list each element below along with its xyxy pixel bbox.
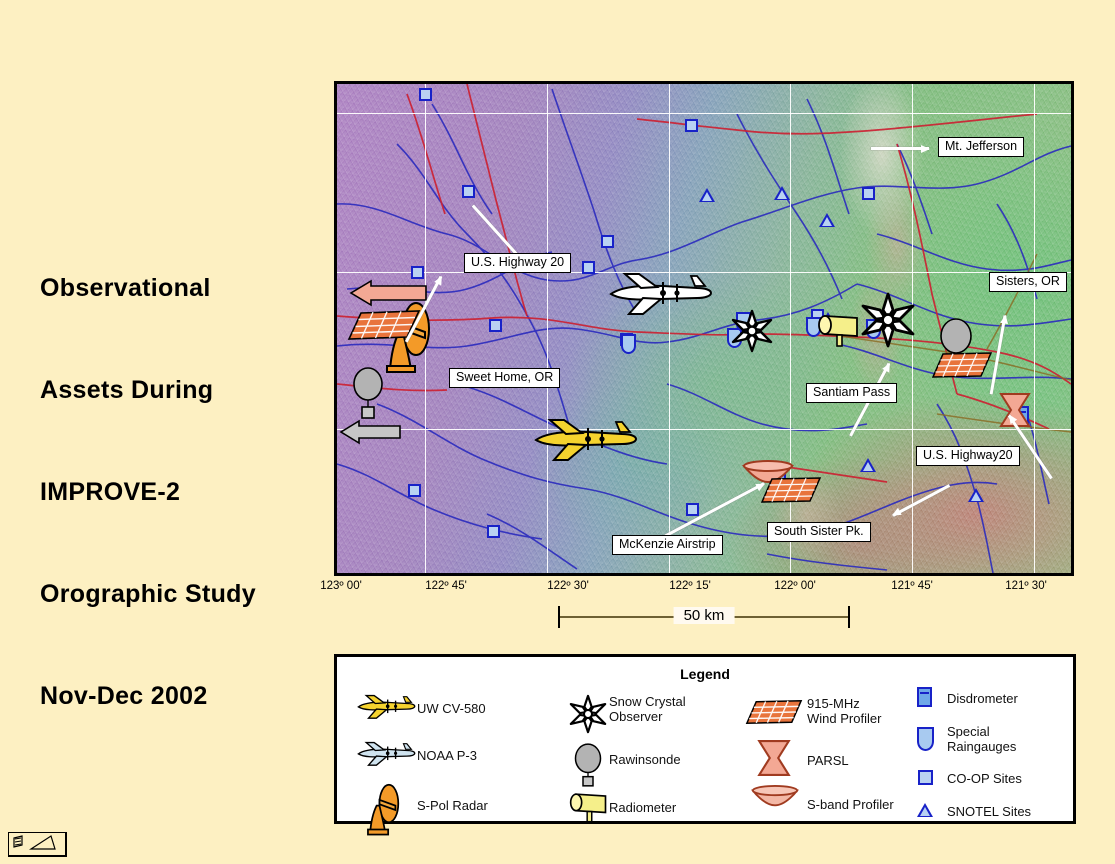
map-marker-coop-site[interactable] <box>582 261 595 274</box>
callout-sisters-or[interactable]: Sisters, OR <box>989 272 1067 292</box>
callout-south-sister-pk[interactable]: South Sister Pk. <box>767 522 871 542</box>
legend-label: S-Pol Radar <box>417 798 488 813</box>
legend-column-surface-instruments: Snow Crystal Observer Rawinsonde Rad <box>569 685 749 829</box>
map-marker-coop-site[interactable] <box>685 119 698 132</box>
legend-panel: Legend UW CV-580 <box>334 654 1076 824</box>
legend-label: Disdrometer <box>947 691 1018 706</box>
map-marker-coop-site[interactable] <box>601 235 614 248</box>
snotel-sites-icon <box>907 800 947 822</box>
legend-item-disdrometer[interactable]: Disdrometer <box>907 679 1082 717</box>
map-icon-rawinsonde[interactable] <box>351 368 385 418</box>
s-band-profiler-icon <box>745 783 807 825</box>
callout-sweet-home-or[interactable]: Sweet Home, OR <box>449 368 560 388</box>
map-marker-coop-site[interactable] <box>862 187 875 200</box>
map-marker-coop-site[interactable] <box>487 525 500 538</box>
map-icon-snow-crystal-observer[interactable] <box>861 292 915 348</box>
map-icon-wind-profiler[interactable] <box>931 351 993 379</box>
legend-label: Radiometer <box>609 800 676 815</box>
callout-santiam-pass[interactable]: Santiam Pass <box>806 383 897 403</box>
legend-item-s-pol-radar[interactable]: S-Pol Radar <box>355 779 545 831</box>
map-arrow-pink <box>349 280 427 306</box>
legend-item-snow-crystal-observer[interactable]: Snow Crystal Observer <box>569 685 749 733</box>
map-icon-wind-profiler[interactable] <box>760 476 822 504</box>
uw-cv580-aircraft-icon <box>355 687 417 729</box>
legend-item-co-op-sites[interactable]: CO-OP Sites <box>907 761 1082 795</box>
legend-label: NOAA P-3 <box>417 748 477 763</box>
scale-bar: 50 km <box>558 604 850 632</box>
leader-line-mckenzie-airstrip <box>664 482 764 537</box>
leader-line-south-sister <box>892 484 950 517</box>
radiometer-icon <box>569 790 609 824</box>
legend-column-aircraft: UW CV-580 NOAA P-3 <box>355 685 545 831</box>
legend-label: UW CV-580 <box>417 701 486 716</box>
title-line: Orographic Study <box>40 577 256 611</box>
lon-tick-label: 123º 00' <box>320 580 362 592</box>
page-title: Observational Assets During IMPROVE-2 Or… <box>40 203 256 747</box>
legend-item-noaa-p3[interactable]: NOAA P-3 <box>355 731 545 779</box>
gridline-horizontal <box>337 429 1071 430</box>
disdrometer-icon <box>907 685 947 711</box>
legend-label: S-band Profiler <box>807 797 894 812</box>
map-marker-coop-site[interactable] <box>686 503 699 516</box>
map-marker-special-raingauge[interactable] <box>621 334 636 354</box>
title-line: Nov-Dec 2002 <box>40 679 256 713</box>
title-line: Assets During <box>40 373 256 407</box>
map-icon-radiometer[interactable] <box>815 312 863 348</box>
leader-line-mt-jefferson <box>871 147 929 150</box>
legend-label: Special Raingauges <box>947 724 1016 754</box>
legend-label: Rawinsonde <box>609 752 681 767</box>
rawinsonde-icon <box>569 742 609 776</box>
legend-item-radiometer[interactable]: Radiometer <box>569 785 749 829</box>
map-icon-uw-cv580-aircraft[interactable] <box>530 418 640 466</box>
lon-tick-label: 122º 30' <box>547 580 589 592</box>
legend-label: Snow Crystal Observer <box>609 694 686 724</box>
gridline-vertical <box>669 84 670 573</box>
gridline-vertical <box>547 84 548 573</box>
callout-us-highway20[interactable]: U.S. Highway20 <box>916 446 1020 466</box>
lon-tick-label: 121º 30' <box>1005 580 1047 592</box>
callout-mckenzie-airstrip[interactable]: McKenzie Airstrip <box>612 535 723 555</box>
snow-crystal-observer-icon <box>569 692 609 726</box>
legend-label: CO-OP Sites <box>947 771 1022 786</box>
map-thumbnail-widget[interactable] <box>8 832 67 857</box>
legend-column-site-symbols: Disdrometer Special Raingauges CO-OP Sit… <box>907 679 1082 827</box>
title-line: IMPROVE-2 <box>40 475 256 509</box>
map-icon-noaa-p3-aircraft[interactable] <box>607 272 715 318</box>
co-op-sites-icon <box>907 767 947 789</box>
noaa-p3-aircraft-icon <box>355 734 417 776</box>
lon-tick-label: 122º 00' <box>774 580 816 592</box>
map-icon-snow-crystal-observer[interactable] <box>731 309 773 353</box>
wind-profiler-icon <box>745 690 807 732</box>
gridline-horizontal <box>337 113 1071 114</box>
scale-bar-tick <box>848 606 850 628</box>
legend-label: 915-MHz Wind Profiler <box>807 696 881 726</box>
map-thumbnail-icon <box>9 833 63 853</box>
legend-label: PARSL <box>807 753 849 768</box>
gridline-vertical <box>1034 84 1035 573</box>
lon-tick-label: 121º 45' <box>891 580 933 592</box>
map-arrow-gray <box>339 420 401 444</box>
legend-item-snotel-sites[interactable]: SNOTEL Sites <box>907 795 1082 827</box>
map-marker-coop-site[interactable] <box>408 484 421 497</box>
map-marker-coop-site[interactable] <box>489 319 502 332</box>
special-raingauges-icon <box>907 724 947 754</box>
legend-item-special-raingauges[interactable]: Special Raingauges <box>907 717 1082 761</box>
legend-label: SNOTEL Sites <box>947 804 1031 819</box>
map-marker-coop-site[interactable] <box>411 266 424 279</box>
map-marker-coop-site[interactable] <box>419 88 432 101</box>
parsl-icon <box>745 739 807 781</box>
title-line: Observational <box>40 271 256 305</box>
callout-mt-jefferson[interactable]: Mt. Jefferson <box>938 137 1024 157</box>
s-pol-radar-icon <box>355 784 417 826</box>
lon-tick-label: 122º 45' <box>425 580 467 592</box>
scale-bar-tick <box>558 606 560 628</box>
callout-us-highway-20[interactable]: U.S. Highway 20 <box>464 253 571 273</box>
legend-item-uw-cv580[interactable]: UW CV-580 <box>355 685 545 731</box>
lon-tick-label: 122º 15' <box>669 580 711 592</box>
legend-item-rawinsonde[interactable]: Rawinsonde <box>569 733 749 785</box>
scale-bar-label: 50 km <box>674 607 735 624</box>
map-marker-coop-site[interactable] <box>462 185 475 198</box>
